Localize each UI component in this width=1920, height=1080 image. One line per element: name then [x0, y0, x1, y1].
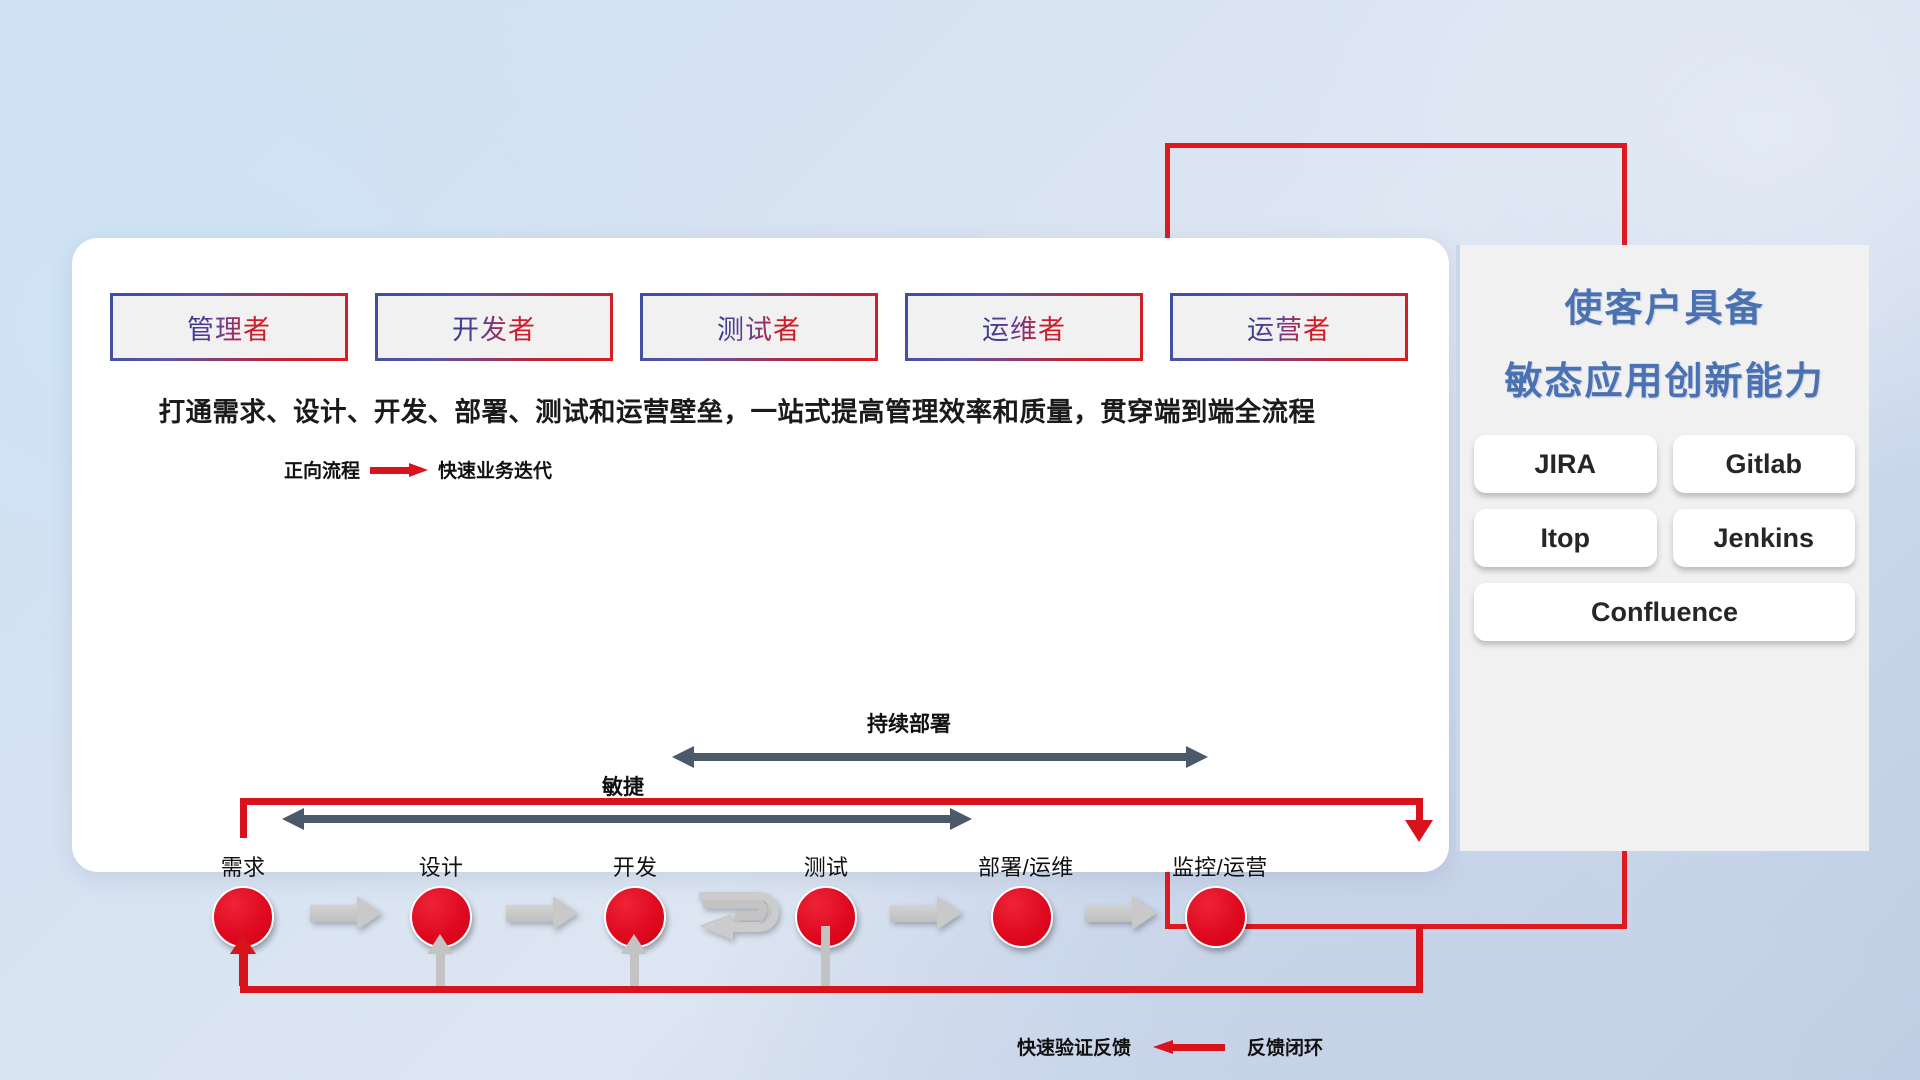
node-label: 部署/运维	[978, 850, 1066, 882]
red-loop-left-riser	[240, 798, 247, 838]
tool-chip-jira[interactable]: JIRA	[1474, 435, 1657, 493]
main-diagram-card: 管理者 开发者 测试者 运维者 运营者 打通需求、设计、开发、部署、测试和运营壁…	[72, 238, 1449, 872]
role-label: 运维者	[982, 308, 1066, 347]
gray-arrow-deploy-to-monitor-icon	[1085, 896, 1157, 930]
arrow-shaft	[890, 905, 938, 922]
legend-feedback-label-right: 反馈闭环	[1247, 1033, 1323, 1060]
role-label: 运营者	[1247, 308, 1331, 347]
pipeline-node-deploy-ops[interactable]: 部署/运维	[978, 850, 1066, 948]
gray-arrow-design-to-development-icon	[506, 896, 578, 930]
legend-feedback-label-left: 快速验证反馈	[1017, 1033, 1131, 1060]
right-panel-title-line2: 敏态应用创新能力	[1460, 350, 1869, 405]
red-return-bottom-line	[240, 986, 1423, 993]
feedback-riser-head-design-icon	[427, 934, 453, 954]
measure-bar-agile	[282, 808, 972, 830]
pipeline-row: 需求 设计 开发 测试	[72, 850, 1449, 990]
role-box-manager[interactable]: 管理者	[110, 293, 348, 361]
feedback-riser-design	[436, 952, 445, 986]
red-loop-arrow-head-down-icon	[1405, 820, 1433, 842]
arrow-head-right-icon	[357, 896, 382, 930]
node-circle-icon	[1185, 886, 1247, 948]
measure-caption-continuous-deployment: 持续部署	[867, 708, 951, 738]
feedback-riser-head-development-icon	[621, 934, 647, 954]
node-circle-icon	[991, 886, 1053, 948]
gray-arrow-requirement-to-design-icon	[310, 896, 382, 930]
legend-feedback-loop: 快速验证反馈 反馈闭环	[1017, 1033, 1323, 1060]
arrow-shaft	[690, 753, 1190, 761]
role-label: 管理者	[187, 308, 271, 347]
tool-chip-confluence[interactable]: Confluence	[1474, 583, 1855, 641]
role-label: 开发者	[452, 308, 536, 347]
arrow-shaft	[300, 815, 954, 823]
red-return-left-riser	[240, 962, 247, 993]
right-panel-title-line1: 使客户具备	[1460, 277, 1869, 332]
arrow-shaft	[506, 905, 554, 922]
role-box-ops[interactable]: 运维者	[905, 293, 1143, 361]
tool-chip-itop[interactable]: Itop	[1474, 509, 1657, 567]
legend-forward-flow: 正向流程 快速业务迭代	[284, 456, 552, 483]
node-label: 测试	[782, 850, 870, 882]
arrow-shaft	[310, 905, 358, 922]
role-box-developer[interactable]: 开发者	[375, 293, 613, 361]
tool-chip-jenkins[interactable]: Jenkins	[1673, 509, 1856, 567]
feedback-riser-testing	[821, 926, 830, 986]
feedback-riser-head-requirement-icon	[230, 934, 256, 954]
arrow-head-right-icon	[950, 808, 972, 830]
feedback-riser-development	[630, 952, 639, 986]
measure-bar-continuous-deployment	[672, 746, 1208, 768]
pipeline-node-monitor-operations[interactable]: 监控/运营	[1172, 850, 1260, 948]
measure-caption-agile: 敏捷	[602, 771, 644, 801]
arrow-shaft	[1085, 905, 1133, 922]
role-box-tester[interactable]: 测试者	[640, 293, 878, 361]
double-arrow-icon	[282, 808, 972, 830]
arrow-head-right-icon	[1186, 746, 1208, 768]
node-label: 监控/运营	[1172, 850, 1260, 882]
red-loop-top-line	[240, 798, 1423, 805]
right-value-panel: 使客户具备 敏态应用创新能力 JIRA Gitlab Itop Jenkins …	[1456, 245, 1869, 851]
arrow-head-right-icon	[553, 896, 578, 930]
role-label: 测试者	[717, 308, 801, 347]
tool-chip-grid: JIRA Gitlab Itop Jenkins Confluence	[1474, 435, 1855, 641]
node-label: 设计	[397, 850, 485, 882]
node-label: 需求	[199, 850, 287, 882]
gray-arrow-testing-to-deploy-icon	[890, 896, 962, 930]
arrow-left-red-icon	[1153, 1040, 1225, 1054]
node-label: 开发	[591, 850, 679, 882]
arrow-head-right-icon	[1132, 896, 1157, 930]
role-box-row: 管理者 开发者 测试者 运维者 运营者	[110, 293, 1410, 361]
tool-chip-gitlab[interactable]: Gitlab	[1673, 435, 1856, 493]
arrow-right-red-icon	[370, 463, 428, 477]
headline-text: 打通需求、设计、开发、部署、测试和运营壁垒，一站式提高管理效率和质量，贯穿端到端…	[72, 390, 1402, 429]
role-box-operations[interactable]: 运营者	[1170, 293, 1408, 361]
legend-forward-label-right: 快速业务迭代	[438, 456, 552, 483]
red-return-right-riser	[1416, 926, 1423, 993]
legend-forward-label-left: 正向流程	[284, 456, 360, 483]
arrow-head-right-icon	[937, 896, 962, 930]
double-arrow-icon	[672, 746, 1208, 768]
